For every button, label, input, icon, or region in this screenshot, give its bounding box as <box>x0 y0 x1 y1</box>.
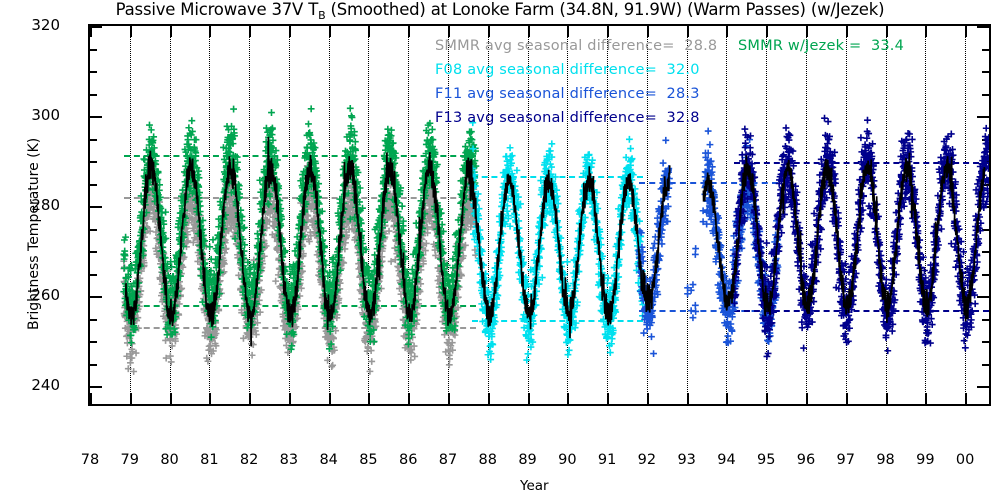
x-tick-label: 91 <box>587 452 627 468</box>
x-tick-label: 79 <box>110 452 150 468</box>
x-tick-label: 97 <box>826 452 866 468</box>
x-tick-label: 89 <box>508 452 548 468</box>
data-series-smmr-w-jezek <box>120 105 479 353</box>
x-axis-label: Year <box>520 478 549 494</box>
legend-item-f13: F13 avg seasonal difference= 32.8 <box>435 110 700 126</box>
x-tick-label: 82 <box>229 452 269 468</box>
x-tick-label: 88 <box>468 452 508 468</box>
x-tick-label: 90 <box>547 452 587 468</box>
y-tick-label: 280 <box>14 196 60 214</box>
x-tick-label: 98 <box>866 452 906 468</box>
x-tick-label: 81 <box>189 452 229 468</box>
legend-item-smmr: SMMR avg seasonal difference= 28.8 <box>435 38 717 54</box>
x-tick-label: 84 <box>309 452 349 468</box>
plot-frame: SMMR avg seasonal difference= 28.8SMMR w… <box>88 24 991 406</box>
legend-item-f08: F08 avg seasonal difference= 32.0 <box>435 62 700 78</box>
x-tick-label: 93 <box>667 452 707 468</box>
y-tick-label: 320 <box>14 16 60 34</box>
y-tick-label: 240 <box>14 376 60 394</box>
chart-title: Passive Microwave 37V TB (Smoothed) at L… <box>116 0 885 22</box>
x-tick-label: 94 <box>706 452 746 468</box>
legend-item-smmr-jezek: SMMR w/Jezek = 33.4 <box>738 38 904 54</box>
x-tick-label: 99 <box>905 452 945 468</box>
x-tick-label: 00 <box>945 452 985 468</box>
y-tick-label: 260 <box>14 286 60 304</box>
data-plot-area <box>90 26 989 404</box>
legend-item-f11: F11 avg seasonal difference= 28.3 <box>435 86 700 102</box>
x-tick-label: 96 <box>786 452 826 468</box>
title-post: (Smoothed) at Lonoke Farm (34.8N, 91.9W)… <box>325 0 884 19</box>
x-tick-label: 92 <box>627 452 667 468</box>
x-tick-label: 95 <box>746 452 786 468</box>
series-svg <box>90 26 989 404</box>
x-tick-label: 85 <box>348 452 388 468</box>
x-tick-label: 78 <box>70 452 110 468</box>
title-subscript: B <box>318 9 325 22</box>
x-tick-label: 87 <box>428 452 468 468</box>
chart-root: Passive Microwave 37V TB (Smoothed) at L… <box>0 0 1000 500</box>
data-series-f13 <box>731 115 989 360</box>
x-tick-label: 86 <box>388 452 428 468</box>
x-tick-label: 83 <box>269 452 309 468</box>
y-tick-label: 300 <box>14 106 60 124</box>
title-pre: Passive Microwave 37V T <box>116 0 318 19</box>
x-tick-label: 80 <box>150 452 190 468</box>
